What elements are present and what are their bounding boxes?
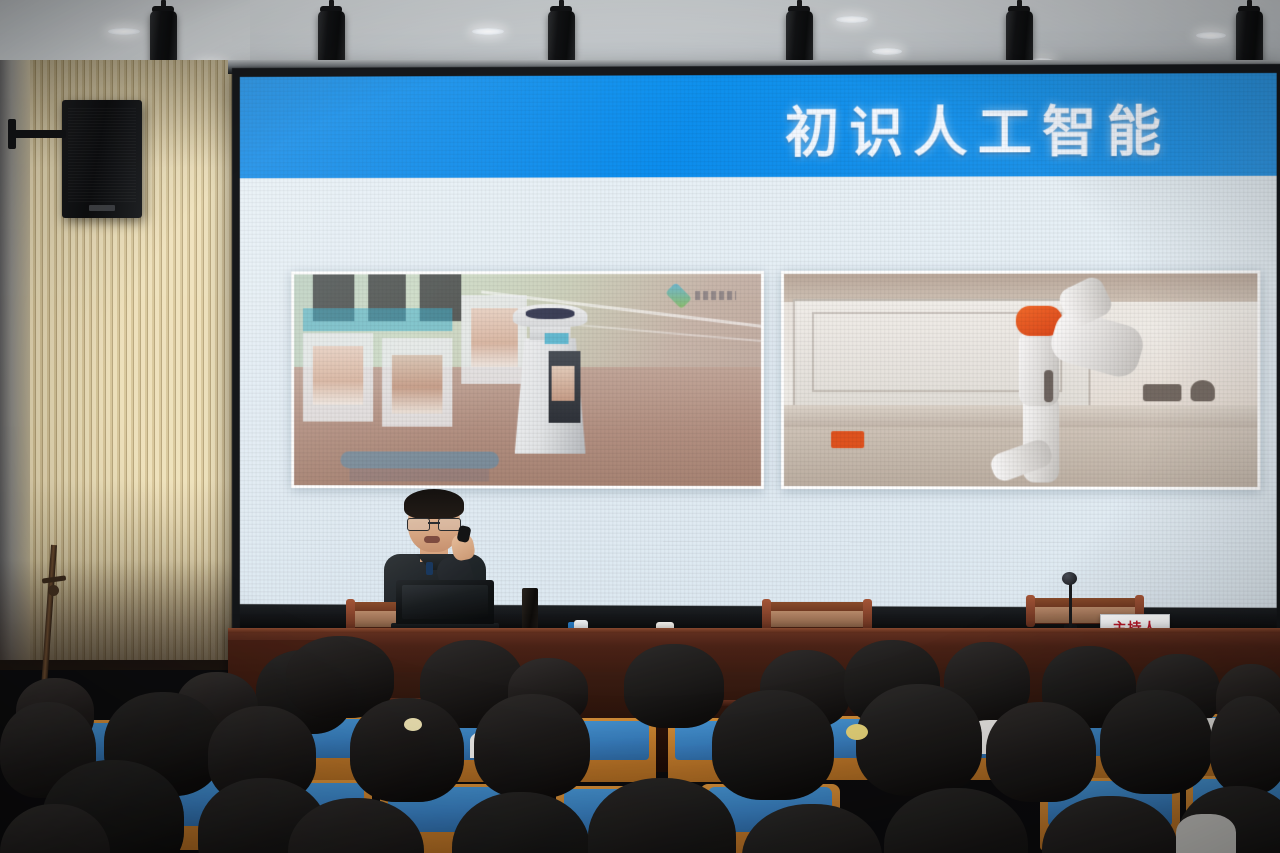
photo-portrait (392, 355, 443, 414)
glasses-lens-right (438, 518, 461, 531)
audience-area (0, 636, 1280, 853)
glasses-lens-left (407, 518, 430, 531)
mic-capsule (1062, 572, 1077, 585)
track-spotlight (1248, 0, 1249, 1)
speaker-badge (89, 205, 115, 211)
recessed-downlight (472, 28, 504, 35)
mic-stand-knob (48, 585, 59, 596)
audience-head (712, 690, 834, 800)
robot-arm (973, 282, 1153, 482)
presenter-glasses (407, 518, 461, 529)
wall-speaker (62, 100, 142, 218)
lecture-hall-photo: 初识人工智能 (0, 0, 1280, 853)
glasses-bridge (428, 522, 440, 524)
recessed-downlight (1196, 32, 1226, 39)
spotlight-housing (1006, 11, 1033, 67)
presenter-hair (404, 489, 464, 519)
chair-post-right (863, 599, 872, 631)
hair-tie (404, 718, 422, 731)
spotlight-housing (318, 11, 345, 67)
mic-gooseneck (1069, 580, 1072, 628)
photo-orange-tool (831, 431, 864, 448)
chair-post-left (762, 599, 771, 631)
recessed-downlight (836, 16, 868, 23)
track-spotlight (1018, 0, 1019, 1)
presenter-lapel-mic (426, 562, 433, 575)
watermark-mark (665, 283, 692, 310)
chair-post-left (346, 599, 355, 631)
speaker-bracket (14, 130, 66, 138)
spotlight-housing (1236, 11, 1263, 67)
photo-watermark-logo (667, 287, 737, 306)
photo-target-banner (303, 308, 452, 331)
recessed-downlight (108, 28, 140, 35)
watermark-text (695, 291, 736, 300)
robot-visor (526, 308, 575, 319)
hair-tie (846, 724, 868, 740)
spotlight-housing (786, 11, 813, 67)
audience-head (350, 698, 464, 802)
audience-head (624, 644, 724, 728)
track-spotlight (330, 0, 331, 1)
photo-subcaption-bar (350, 468, 490, 481)
track-spotlight (560, 0, 561, 1)
slide-image-robot-arm (781, 270, 1260, 490)
audience-head (474, 694, 590, 798)
audience-head (884, 788, 1028, 853)
chair-cushion (771, 611, 863, 627)
photo-bench-object (1191, 380, 1215, 401)
robot-screen-content (552, 366, 574, 400)
slide-title: 初识人工智能 (785, 87, 1171, 167)
chair-post-left (1026, 595, 1035, 627)
recessed-downlight (872, 48, 902, 55)
patrol-robot (503, 304, 596, 461)
arm-cable (1045, 370, 1054, 402)
audience-head (1210, 696, 1280, 794)
track-spotlight (798, 0, 799, 1)
track-spotlight (162, 0, 163, 1)
photo-caption-bar (340, 452, 498, 469)
presenter-laptop (396, 580, 494, 632)
slide-image-patrol-robot (291, 271, 764, 489)
presenter-mouth (424, 536, 440, 543)
table-microphone (1062, 572, 1078, 630)
audience-shoulder (1176, 814, 1236, 853)
laptop-screen (396, 580, 494, 624)
table-object (522, 588, 538, 632)
spotlight-housing (150, 11, 177, 67)
robot-tag (545, 334, 569, 345)
audience-head (856, 684, 982, 796)
spotlight-housing (548, 11, 575, 67)
photo-portrait (313, 346, 364, 405)
audience-head (1100, 690, 1212, 794)
audience-head (986, 702, 1096, 802)
